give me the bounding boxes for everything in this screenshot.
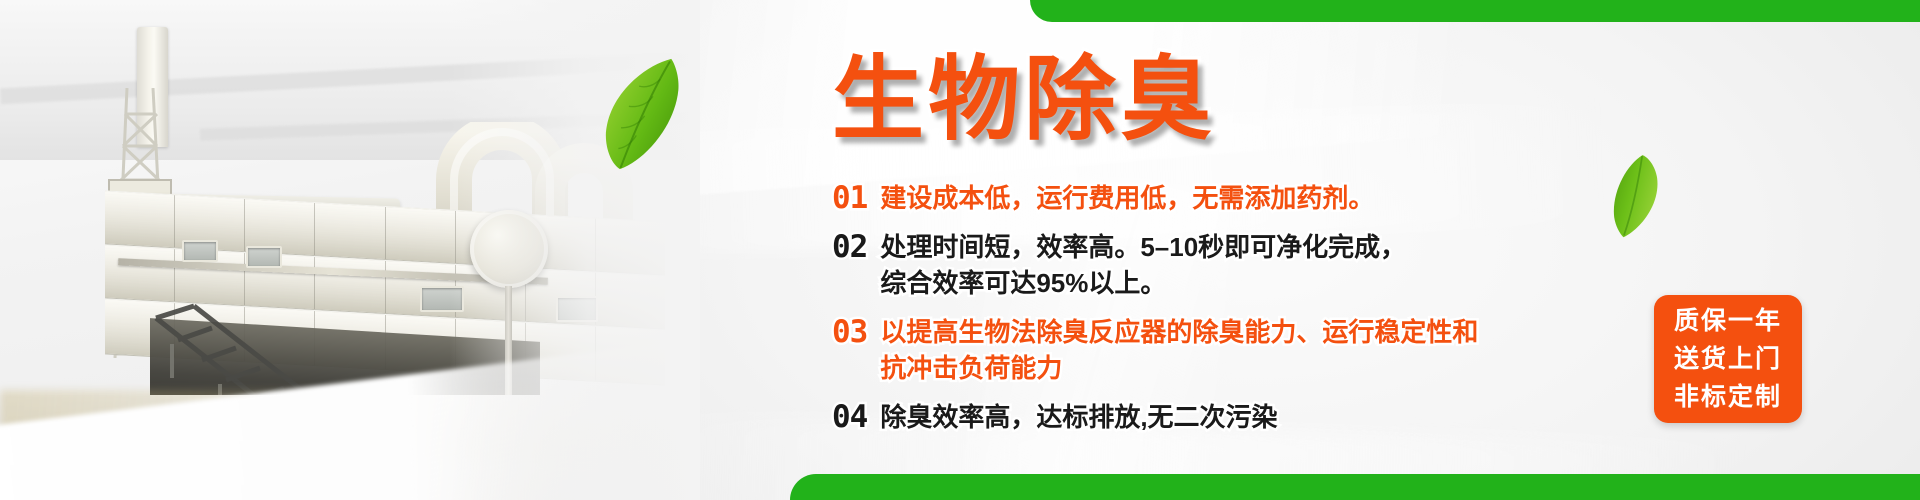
- promo-banner: 生物除臭 01 建设成本低，运行费用低，无需添加药剂。 02 处理时间短，效率高…: [0, 0, 1920, 500]
- badge-line-2: 送货上门: [1674, 340, 1782, 378]
- feature-number: 04: [832, 399, 867, 435]
- badge-line-1: 质保一年: [1674, 302, 1782, 340]
- feature-number: 03: [832, 314, 867, 350]
- list-item: 01 建设成本低，运行费用低，无需添加药剂。: [832, 180, 1652, 216]
- green-bar-top: [1030, 0, 1920, 22]
- feature-text: 除臭效率高，达标排放,无二次污染: [880, 399, 1277, 435]
- warranty-badge: 质保一年 送货上门 非标定制: [1654, 295, 1802, 423]
- feature-number: 02: [832, 229, 867, 265]
- feature-text: 建设成本低，运行费用低，无需添加药剂。: [880, 180, 1374, 216]
- feature-list: 01 建设成本低，运行费用低，无需添加药剂。 02 处理时间短，效率高。5–10…: [832, 180, 1652, 435]
- feature-text: 处理时间短，效率高。5–10秒即可净化完成， 综合效率可达95%以上。: [880, 229, 1406, 301]
- badge-line-3: 非标定制: [1674, 378, 1782, 416]
- green-bar-bottom: [790, 474, 1920, 500]
- list-item: 02 处理时间短，效率高。5–10秒即可净化完成， 综合效率可达95%以上。: [832, 229, 1652, 301]
- page-title: 生物除臭: [832, 54, 1652, 146]
- inspection-window: [246, 246, 282, 268]
- feature-number: 01: [832, 180, 867, 216]
- list-item: 03 以提高生物法除臭反应器的除臭能力、运行稳定性和 抗冲击负荷能力: [832, 314, 1652, 386]
- inspection-window: [182, 240, 218, 262]
- list-item: 04 除臭效率高，达标排放,无二次污染: [832, 399, 1652, 435]
- feature-text: 以提高生物法除臭反应器的除臭能力、运行稳定性和 抗冲击负荷能力: [880, 314, 1478, 386]
- content-column: 生物除臭 01 建设成本低，运行费用低，无需添加药剂。 02 处理时间短，效率高…: [832, 54, 1652, 474]
